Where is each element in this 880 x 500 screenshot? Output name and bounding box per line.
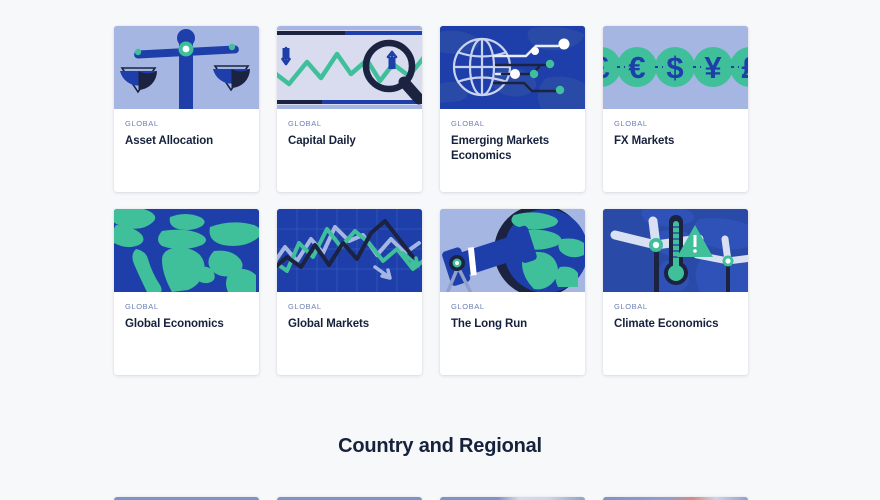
card-global-markets[interactable]: GLOBAL Global Markets (277, 209, 422, 375)
card-the-long-run[interactable]: GLOBAL The Long Run (440, 209, 585, 375)
card-kicker: GLOBAL (288, 302, 411, 311)
newsletter-directory-page: GLOBAL Asset Allocation (0, 0, 880, 500)
card-kicker: GLOBAL (451, 119, 574, 128)
world-map-icon (114, 209, 259, 292)
card-climate-economics[interactable]: GLOBAL Climate Economics (603, 209, 748, 375)
card-title: Capital Daily (288, 134, 411, 149)
card-body: GLOBAL Global Economics (114, 292, 259, 375)
card-body: GLOBAL Global Markets (277, 292, 422, 375)
card-title: Global Markets (288, 317, 411, 332)
card-body: GLOBAL Emerging Markets Economics (440, 109, 585, 192)
card-kicker: GLOBAL (288, 119, 411, 128)
scales-balance-icon (114, 26, 259, 109)
card-title: Global Economics (125, 317, 248, 332)
section-heading-country-and-regional: Country and Regional (0, 435, 880, 458)
line-chart-magnifier-icon (277, 26, 422, 109)
wind-turbine-thermometer-icon (603, 209, 748, 292)
card-fx-markets[interactable]: £ € $ ¥ £ GLOBAL FX Markets (603, 26, 748, 192)
card-title: FX Markets (614, 134, 737, 149)
card-title: Emerging Markets Economics (451, 134, 574, 164)
global-section-row-1: GLOBAL Asset Allocation (114, 26, 751, 192)
currency-symbols-icon: £ € $ ¥ £ (603, 26, 748, 109)
globe-network-icon (440, 26, 585, 109)
card-global-economics[interactable]: GLOBAL Global Economics (114, 209, 259, 375)
svg-text:£: £ (741, 50, 748, 85)
card-body: GLOBAL Capital Daily (277, 109, 422, 192)
card-kicker: GLOBAL (614, 302, 737, 311)
svg-text:¥: ¥ (704, 50, 722, 85)
card-kicker: GLOBAL (125, 119, 248, 128)
svg-text:$: $ (666, 50, 683, 85)
card-body: GLOBAL Asset Allocation (114, 109, 259, 192)
card-title: The Long Run (451, 317, 574, 332)
telescope-globe-icon (440, 209, 585, 292)
card-emerging-markets-economics[interactable]: GLOBAL Emerging Markets Economics (440, 26, 585, 192)
svg-text:£: £ (603, 50, 610, 85)
card-kicker: GLOBAL (451, 302, 574, 311)
svg-text:€: € (628, 50, 645, 85)
card-kicker: GLOBAL (125, 302, 248, 311)
card-row: GLOBAL Asset Allocation (114, 26, 751, 192)
card-kicker: GLOBAL (614, 119, 737, 128)
card-title: Asset Allocation (125, 134, 248, 149)
card-body: GLOBAL Climate Economics (603, 292, 748, 375)
card-row: GLOBAL Global Economics (114, 209, 751, 375)
global-section-row-2: GLOBAL Global Economics (114, 209, 751, 375)
card-body: GLOBAL The Long Run (440, 292, 585, 375)
card-capital-daily[interactable]: GLOBAL Capital Daily (277, 26, 422, 192)
card-title: Climate Economics (614, 317, 737, 332)
card-body: GLOBAL FX Markets (603, 109, 748, 192)
multi-line-chart-icon (277, 209, 422, 292)
card-asset-allocation[interactable]: GLOBAL Asset Allocation (114, 26, 259, 192)
